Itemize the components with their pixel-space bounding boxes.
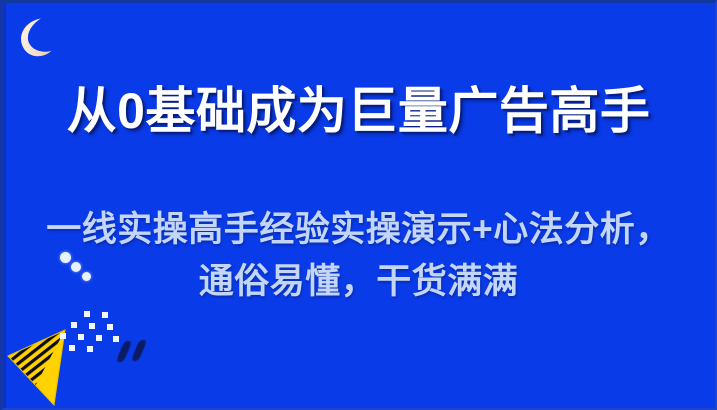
banner-title: 从0基础成为巨量广告高手 [0,80,717,142]
quote-slash-decoration [119,340,153,364]
grid-square [69,345,75,351]
course-promo-banner: 从0基础成为巨量广告高手 一线实操高手经验实操演示+心法分析， 通俗易懂，干货满… [0,0,717,410]
banner-subtitle-line-2: 通俗易懂，干货满满 [0,256,717,308]
grid-square [87,346,93,352]
grid-square [113,336,119,342]
grid-square [60,333,66,339]
crescent-moon-icon [16,16,62,60]
grid-square [71,322,77,328]
grid-square [89,323,95,329]
grid-square [107,324,113,330]
grid-square [84,311,90,317]
slash-stroke [131,340,147,361]
grid-square [102,312,108,318]
banner-subtitle-line-1: 一线实操高手经验实操演示+心法分析， [0,204,717,256]
square-dot-grid-decoration [59,311,121,365]
grid-square [78,334,84,340]
grid-square [96,335,102,341]
banner-subtitle: 一线实操高手经验实操演示+心法分析， 通俗易懂，干货满满 [0,204,717,308]
